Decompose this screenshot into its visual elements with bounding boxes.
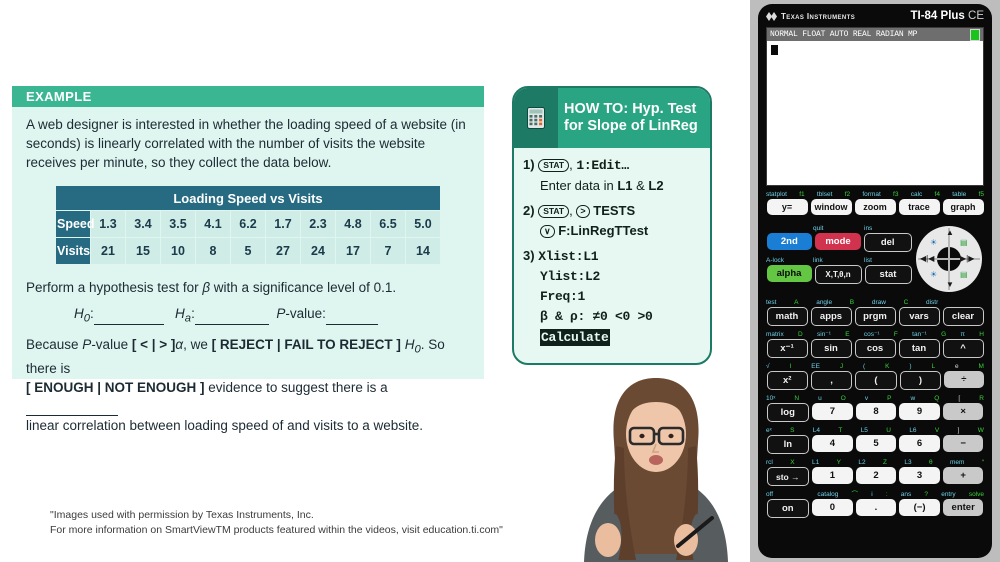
second-left-keys: quit ins 2nd mode del A-lock link list (765, 224, 913, 285)
label-p: P (887, 394, 891, 403)
key-2[interactable]: 2 (856, 467, 897, 484)
cell-speed-7: 4.8 (336, 211, 371, 238)
key-negate[interactable]: (−) (899, 499, 940, 516)
conclusion-text: Because P-value [ < | > ]α, we [ REJECT … (26, 335, 470, 436)
row3-labels: matrix D sin⁻¹ E cos⁻¹ F tan⁻¹ G π H (765, 330, 985, 339)
h0-label: H (74, 306, 84, 321)
label-alock: A-lock (766, 256, 810, 265)
row-math-keys: math apps prgm vars clear (765, 307, 985, 326)
label-sqrt: √ (766, 362, 770, 371)
key-9[interactable]: 9 (899, 403, 940, 420)
row7-labels: rcl X L1 Y L2 Z L3 θ mem “ (765, 458, 985, 467)
label-a: A (794, 298, 798, 307)
key-3[interactable]: 3 (899, 467, 940, 484)
right-arrow-icon[interactable]: ▶|▶ (960, 254, 974, 263)
example-panel: EXAMPLE A web designer is interested in … (12, 86, 484, 379)
label-test: test (766, 298, 776, 307)
key-window[interactable]: window (811, 199, 852, 215)
table-row-speed: Speed 1.3 3.4 3.5 4.1 6.2 1.7 2.3 4.8 6.… (56, 211, 441, 238)
blanks-line: H0: Ha: P-value: (26, 306, 470, 325)
row-trig-keys: x⁻¹ sin cos tan ^ (765, 339, 985, 358)
step2-sep: , (569, 203, 573, 218)
right-arrow-keycap[interactable]: > (576, 205, 589, 218)
key-math[interactable]: math (767, 307, 808, 326)
label-list: list (864, 256, 912, 265)
brightness-up-icon[interactable]: ☀ (930, 238, 937, 247)
cell-speed-9: 5.0 (406, 211, 441, 238)
key-left-paren[interactable]: ( (855, 371, 896, 390)
label-v: v (865, 394, 868, 403)
conclusion-h0: H (405, 337, 415, 352)
label-theta: θ (929, 458, 933, 467)
choice-reject[interactable]: [ REJECT | FAIL TO REJECT ] (212, 337, 401, 352)
screen-status-bar: NORMAL FLOAT AUTO REAL RADIAN MP (767, 28, 983, 41)
key-2nd[interactable]: 2nd (767, 233, 813, 250)
label-imaginary: i (871, 490, 872, 499)
up-arrow-icon[interactable]: ▲ (946, 228, 954, 237)
calculator-icon (514, 88, 558, 148)
label-lbracket: [ (958, 394, 960, 403)
key-on[interactable]: on (767, 499, 810, 518)
key-cos[interactable]: cos (855, 339, 896, 358)
stat-keycap-2[interactable]: STAT (538, 205, 569, 218)
xlist-field: Xlist:L1 (538, 249, 598, 264)
row-789-block: 10ˣ N u O v P w Q [ R log 7 8 9 × (765, 394, 985, 422)
label-atan: tan⁻¹ (912, 330, 927, 339)
label-draw: draw (872, 298, 886, 307)
step1-sep: , (569, 157, 573, 172)
key-xton[interactable]: X,T,θ,n (815, 265, 862, 284)
row0-labels: quit ins (765, 224, 913, 233)
cell-visits-1: 15 (126, 238, 161, 265)
fkey-label-row: statplot f1 tblset f2 format f3 calc f4 … (765, 190, 985, 199)
presenter-video (566, 368, 746, 562)
howto-header: HOW TO: Hyp. Test for Slope of LinReg (514, 88, 710, 148)
key-zoom[interactable]: zoom (855, 199, 896, 215)
label-l2: L2 (858, 458, 865, 467)
label-rbracket: ] (958, 426, 960, 435)
label-l4: L4 (813, 426, 820, 435)
linregttest-label: F:LinRegTTest (558, 223, 648, 238)
alternative-field: β & ρ: ≠0 <0 >0 (523, 308, 710, 326)
key-plus[interactable]: + (943, 467, 984, 484)
label-z-letter: Z (883, 458, 887, 467)
step3-number: 3) (523, 248, 535, 263)
row4-labels: √ I EE J ( K ) L e M (765, 362, 985, 371)
label-solve: solve (969, 490, 984, 499)
key-log[interactable]: log (767, 403, 810, 422)
step1-number: 1) (523, 157, 535, 172)
label-quote: “ (982, 458, 984, 467)
down-arrow-icon[interactable]: ▼ (946, 280, 954, 289)
cell-visits-9: 14 (406, 238, 441, 265)
key-prgm[interactable]: prgm (855, 307, 896, 326)
label-h: H (979, 330, 984, 339)
conclusion-part-6: linear correlation between loading speed… (26, 418, 423, 433)
step2-tests: TESTS (593, 203, 635, 218)
howto-title-line1: HOW TO: Hyp. Test (564, 101, 698, 118)
cell-speed-8: 6.5 (371, 211, 406, 238)
label-n: N (794, 394, 799, 403)
label-catalog: catalog (817, 490, 838, 499)
fkey-label-tblset: tblset (817, 190, 833, 199)
label-distr: distr (926, 298, 938, 307)
label-asin: sin⁻¹ (817, 330, 831, 339)
label-m: M (979, 362, 984, 371)
step2-number: 2) (523, 203, 535, 218)
label-u2: U (886, 426, 891, 435)
cell-visits-7: 17 (336, 238, 371, 265)
hypothesis-text-a: Perform a hypothesis test for (26, 280, 202, 295)
cell-visits-5: 27 (266, 238, 301, 265)
label-matrix: matrix (766, 330, 784, 339)
choice-inequality[interactable]: [ < | > ] (132, 337, 176, 352)
label-acos: cos⁻¹ (864, 330, 880, 339)
label-b: B (850, 298, 854, 307)
howto-title: HOW TO: Hyp. Test for Slope of LinReg (564, 101, 698, 135)
footer-line-1: "Images used with permission by Texas In… (50, 508, 520, 523)
h0-blank[interactable] (94, 312, 164, 325)
key-trace[interactable]: trace (899, 199, 940, 215)
row1-labels: A-lock link list (765, 256, 913, 265)
calculator-brand-bar: Texas Instruments TI-84 Plus CE (758, 4, 992, 25)
row-on-block: off catalog ⌒ i : ans ? entry solve on 0… (765, 490, 985, 518)
label-l3: L3 (904, 458, 911, 467)
row-on-keys: on 0 . (−) enter (765, 499, 985, 518)
cell-visits-4: 5 (231, 238, 266, 265)
conclusion-part-5: evidence to suggest there is a (205, 380, 388, 395)
key-right-paren[interactable]: ) (900, 371, 941, 390)
label-angle: angle (816, 298, 832, 307)
key-multiply[interactable]: × (943, 403, 984, 420)
cell-speed-1: 3.4 (126, 211, 161, 238)
row5-labels: 10ˣ N u O v P w Q [ R (765, 394, 985, 403)
calculator-screen[interactable]: NORMAL FLOAT AUTO REAL RADIAN MP (766, 27, 984, 186)
calculator-keypad: statplot f1 tblset f2 format f3 calc f4 … (758, 186, 992, 518)
contrast-down-icon[interactable]: ▤ (960, 270, 968, 279)
label-ins: ins (864, 224, 912, 233)
model-suffix: CE (968, 10, 984, 22)
list-l2: L2 (648, 178, 663, 193)
key-enter[interactable]: enter (943, 499, 984, 516)
footer-line-2: For more information on SmartViewTM prod… (50, 523, 520, 538)
label-link: link (813, 256, 861, 265)
howto-step-3: 3) Xlist:L1 (523, 247, 710, 266)
example-header: EXAMPLE (12, 86, 484, 107)
fkey-label-table: table (952, 190, 966, 199)
label-s: S (790, 426, 794, 435)
label-r: R (979, 394, 984, 403)
ha-blank[interactable] (195, 312, 269, 325)
presenter-figure (566, 368, 746, 562)
row-math-block: test A angle B draw C distr math apps pr… (765, 298, 985, 326)
label-t: T (838, 426, 842, 435)
label-w2: W (978, 426, 984, 435)
cell-speed-5: 1.7 (266, 211, 301, 238)
calculator-icon-svg (527, 107, 545, 129)
cell-visits-3: 8 (196, 238, 231, 265)
row-456-keys: ln 4 5 6 − (765, 435, 985, 454)
fkey-label-f1: f1 (799, 190, 804, 199)
left-arrow-icon[interactable]: ◀|◀ (920, 254, 934, 263)
pvalue-p: P (276, 306, 285, 321)
conclusion-p-symbol: P (82, 337, 91, 352)
label-f: F (894, 330, 898, 339)
hypothesis-instruction: Perform a hypothesis test for β with a s… (26, 278, 470, 297)
step1-command: 1:Edit… (576, 158, 629, 173)
row-header-visits: Visits (56, 238, 91, 265)
cell-speed-4: 6.2 (231, 211, 266, 238)
key-4[interactable]: 4 (812, 435, 853, 452)
label-q: Q (934, 394, 939, 403)
conclusion-part-3: , we (183, 337, 212, 352)
key-store[interactable]: sto → (767, 467, 810, 486)
label-l6: L6 (909, 426, 916, 435)
example-header-label: EXAMPLE (26, 89, 92, 104)
calculator-frame: Texas Instruments TI-84 Plus CE NORMAL F… (750, 0, 1000, 562)
calculate-row: Calculate (523, 328, 710, 347)
pvalue-label: -value: (285, 306, 326, 321)
label-off: off (766, 490, 773, 499)
dpad-wrap: ▲ ▼ ◀|◀ ▶|▶ ☀ ☀ ▤ ▤ (913, 224, 985, 292)
beta-symbol: β (202, 280, 210, 295)
label-pi: π (960, 330, 965, 339)
key-graph[interactable]: graph (943, 199, 984, 215)
key-vars[interactable]: vars (899, 307, 940, 326)
cell-speed-0: 1.3 (91, 211, 126, 238)
example-body: A web designer is interested in whether … (12, 107, 484, 435)
status-bar-text: NORMAL FLOAT AUTO REAL RADIAN MP (770, 30, 917, 39)
cell-visits-6: 24 (301, 238, 336, 265)
fkey-label-f5: f5 (979, 190, 984, 199)
cell-visits-0: 21 (91, 238, 126, 265)
cell-speed-3: 4.1 (196, 211, 231, 238)
fkey-label-calc: calc (911, 190, 923, 199)
stat-keycap[interactable]: STAT (538, 159, 569, 172)
label-k: K (885, 362, 889, 371)
fkey-label-f2: f2 (845, 190, 850, 199)
row-xsq-keys: x² , ( ) ÷ (765, 371, 985, 390)
key-minus[interactable]: − (943, 435, 984, 452)
pvalue-blank[interactable] (326, 312, 378, 325)
howto-body: 1) STAT, 1:Edit… Enter data in L1 & L2 2… (514, 148, 710, 347)
label-colon: : (886, 490, 888, 499)
model-main: TI-84 Plus (910, 10, 964, 22)
label-y-letter: Y (837, 458, 841, 467)
cell-visits-2: 10 (161, 238, 196, 265)
label-ee: EE (811, 362, 820, 371)
label-u: u (818, 394, 822, 403)
label-o: O (841, 394, 846, 403)
key-clear[interactable]: clear (943, 307, 984, 326)
calculator-model: TI-84 Plus CE (910, 10, 984, 22)
table-title: Loading Speed vs Visits (56, 186, 441, 211)
calculate-button[interactable]: Calculate (540, 329, 610, 346)
fkey-label-format: format (862, 190, 880, 199)
key-divide[interactable]: ÷ (944, 371, 983, 388)
key-apps[interactable]: apps (811, 307, 852, 326)
row-xsq-block: √ I EE J ( K ) L e M x² , ( ) ÷ (765, 362, 985, 390)
key-ln[interactable]: ln (767, 435, 810, 454)
ti-logo-icon (766, 12, 777, 21)
key-decimal[interactable]: . (856, 499, 897, 516)
key-del[interactable]: del (864, 233, 912, 252)
footer-credits: "Images used with permission by Texas In… (50, 508, 520, 538)
row-2nd-keys: 2nd mode del (765, 233, 913, 252)
battery-icon (970, 29, 980, 41)
row-789-keys: log 7 8 9 × (765, 403, 985, 422)
step1-sub-text: Enter data in (540, 178, 617, 193)
directional-pad[interactable]: ▲ ▼ ◀|◀ ▶|▶ ☀ ☀ ▤ ▤ (916, 226, 982, 292)
label-e-const: e (955, 362, 959, 371)
key-1[interactable]: 1 (812, 467, 853, 484)
fkey-label-statplot: statplot (766, 190, 787, 199)
label-x-letter: X (790, 458, 794, 467)
howto-step-1-sub: Enter data in L1 & L2 (523, 177, 710, 195)
example-prompt: A web designer is interested in whether … (26, 115, 470, 172)
fkey-label-f3: f3 (893, 190, 898, 199)
fkey-row: y= window zoom trace graph (765, 199, 985, 215)
fkey-label-f4: f4 (935, 190, 940, 199)
howto-panel: HOW TO: Hyp. Test for Slope of LinReg 1)… (512, 86, 712, 365)
row-header-speed: Speed (56, 211, 91, 238)
howto-step-1: 1) STAT, 1:Edit… (523, 156, 710, 175)
label-tilde: ⌒ (852, 490, 859, 499)
row-123-block: rcl X L1 Y L2 Z L3 θ mem “ sto → 1 2 3 + (765, 458, 985, 486)
label-ans: ans (901, 490, 911, 499)
data-table: Loading Speed vs Visits Speed 1.3 3.4 3.… (55, 185, 441, 265)
conclusion-part-2: -value (91, 337, 132, 352)
howto-step-2: 2) STAT, > TESTS (523, 202, 710, 220)
brand-text: Texas Instruments (781, 12, 855, 21)
label-quit: quit (813, 224, 861, 233)
key-5[interactable]: 5 (856, 435, 897, 452)
key-tan[interactable]: tan (899, 339, 940, 358)
key-7[interactable]: 7 (812, 403, 853, 420)
key-comma[interactable]: , (811, 371, 852, 390)
label-lparen: ( (863, 362, 865, 371)
table-title-row: Loading Speed vs Visits (56, 186, 441, 211)
contrast-up-icon[interactable]: ▤ (960, 238, 968, 247)
cell-speed-6: 2.3 (301, 211, 336, 238)
row-456-block: eˣ S L4 T L5 U L6 V ] W ln 4 5 6 − (765, 426, 985, 454)
row2-labels: test A angle B draw C distr (765, 298, 985, 307)
label-rcl: rcl (766, 458, 773, 467)
brightness-down-icon[interactable]: ☀ (930, 270, 937, 279)
key-x-inverse[interactable]: x⁻¹ (767, 339, 808, 358)
label-d: D (798, 330, 803, 339)
key-caret[interactable]: ^ (943, 339, 984, 358)
label-entry: entry (941, 490, 955, 499)
label-v2: V (935, 426, 939, 435)
key-stat[interactable]: stat (865, 265, 912, 284)
cursor-block (771, 45, 778, 55)
howto-title-line2: for Slope of LinReg (564, 118, 698, 135)
label-rparen: ) (909, 362, 911, 371)
row-alpha-keys: alpha X,T,θ,n stat (765, 265, 913, 284)
label-e: E (845, 330, 849, 339)
hypothesis-text-b: with a significance level of 0.1. (210, 280, 396, 295)
key-8[interactable]: 8 (856, 403, 897, 420)
key-alpha[interactable]: alpha (767, 265, 812, 282)
label-i: I (790, 362, 792, 371)
key-x-squared[interactable]: x² (767, 371, 808, 390)
key-mode[interactable]: mode (815, 233, 861, 250)
row6-labels: eˣ S L4 T L5 U L6 V ] W (765, 426, 985, 435)
label-question: ? (924, 490, 928, 499)
alpha-symbol: α (175, 337, 183, 352)
ha-label: H (175, 306, 185, 321)
label-w: w (911, 394, 916, 403)
table-row-visits: Visits 21 15 10 8 5 27 24 17 7 14 (56, 238, 441, 265)
label-10x: 10ˣ (766, 394, 775, 403)
label-ex: eˣ (766, 426, 772, 435)
label-j: J (840, 362, 843, 371)
key-0[interactable]: 0 (812, 499, 853, 516)
label-l1: L1 (812, 458, 819, 467)
correlation-blank[interactable] (26, 403, 118, 416)
key-y-equals[interactable]: y= (767, 199, 808, 215)
row8-labels: off catalog ⌒ i : ans ? entry solve (765, 490, 985, 499)
howto-step-2-sub: ∨ F:LinRegTTest (523, 222, 710, 240)
conclusion-part-1: Because (26, 337, 82, 352)
ylist-field: Ylist:L2 (523, 268, 710, 286)
cell-speed-2: 3.5 (161, 211, 196, 238)
cell-visits-8: 7 (371, 238, 406, 265)
label-g: G (941, 330, 946, 339)
label-l: L (931, 362, 935, 371)
label-blank-0 (766, 224, 810, 233)
texas-instruments-logo: Texas Instruments (766, 12, 855, 21)
label-l5: L5 (861, 426, 868, 435)
label-mem: mem (950, 458, 964, 467)
freq-field: Freq:1 (523, 288, 710, 306)
list-l1: L1 (617, 178, 632, 193)
key-sin[interactable]: sin (811, 339, 852, 358)
step1-amp: & (633, 178, 649, 193)
calculator-body: Texas Instruments TI-84 Plus CE NORMAL F… (758, 4, 992, 558)
down-arrow-keycap[interactable]: ∨ (540, 225, 555, 238)
choice-enough[interactable]: [ ENOUGH | NOT ENOUGH ] (26, 380, 205, 395)
row-123-keys: sto → 1 2 3 + (765, 467, 985, 486)
row-trig-block: matrix D sin⁻¹ E cos⁻¹ F tan⁻¹ G π H x⁻¹… (765, 330, 985, 358)
label-c: C (904, 298, 909, 307)
key-6[interactable]: 6 (899, 435, 940, 452)
second-block: quit ins 2nd mode del A-lock link list (765, 224, 985, 292)
